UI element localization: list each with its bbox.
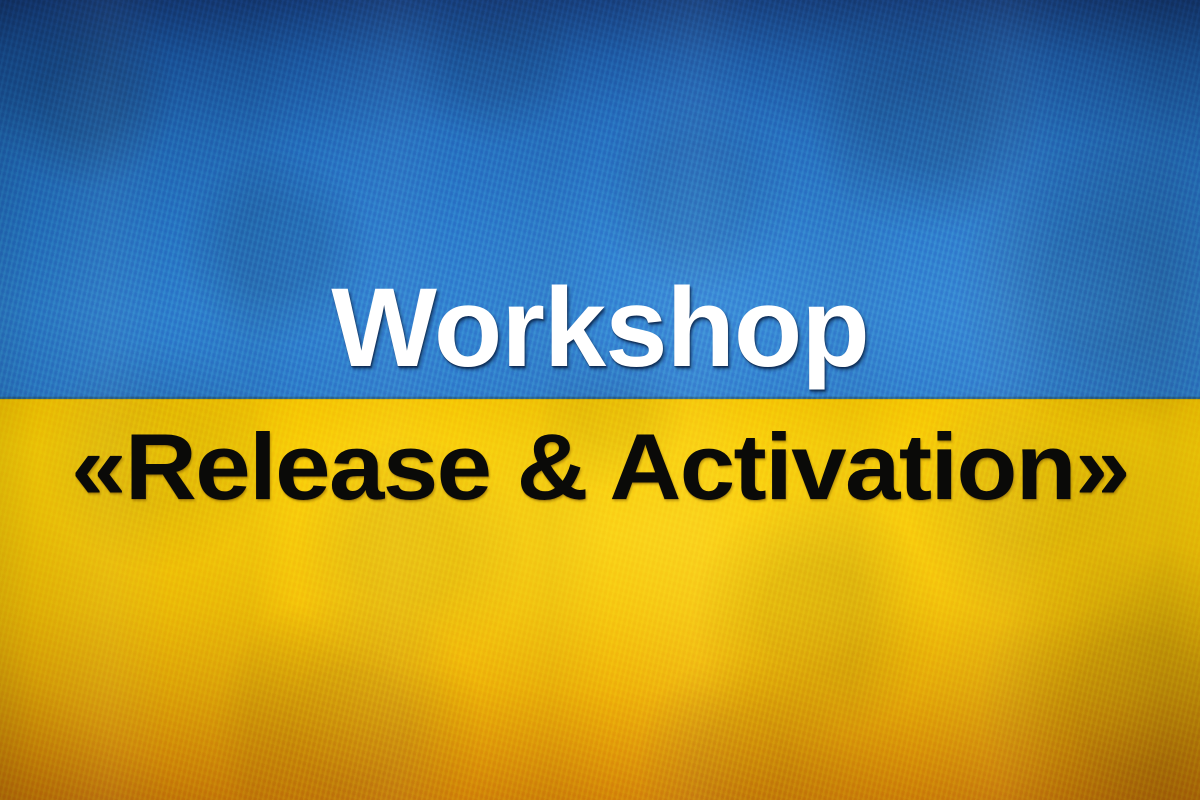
flag-band-seam xyxy=(0,396,1200,400)
ukraine-flag-workshop-banner: Workshop «Release & Activation» xyxy=(0,0,1200,800)
flag-blue-band xyxy=(0,0,1200,399)
flag-yellow-band xyxy=(0,399,1200,800)
